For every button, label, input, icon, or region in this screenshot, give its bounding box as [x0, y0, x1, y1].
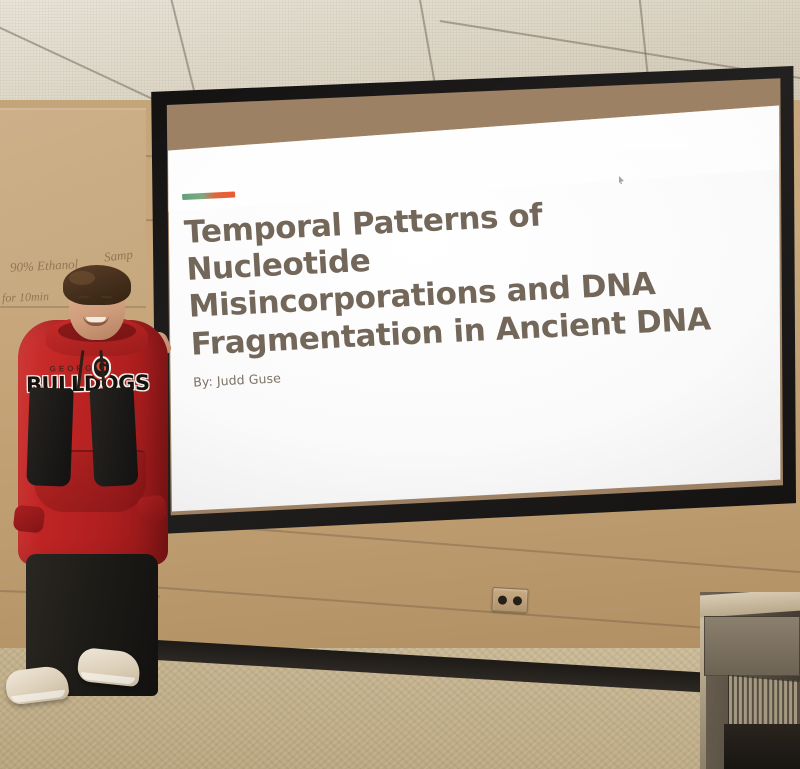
radiator-body	[704, 616, 800, 676]
outlet-port-icon	[512, 596, 521, 605]
eye	[80, 301, 87, 304]
hoodie-cuff	[136, 494, 167, 524]
radiator-top-panel	[700, 592, 800, 618]
radiator-lower	[724, 724, 800, 769]
slide-content: Temporal Patterns of Nucleotide Misincor…	[182, 167, 757, 464]
outlet-port-icon	[498, 595, 507, 604]
classroom-photo: 90% Ethanol Samp for 10min Temporal Patt…	[0, 0, 800, 769]
presenter: GEORGIA BULLDOGS G	[0, 268, 190, 769]
leg	[26, 387, 73, 486]
radiator-unit	[700, 592, 800, 769]
wall-outlet[interactable]	[491, 587, 528, 613]
projection-screen[interactable]: Temporal Patterns of Nucleotide Misincor…	[146, 66, 796, 536]
shoe	[4, 664, 70, 705]
accent-bar	[182, 191, 235, 200]
eye	[103, 301, 110, 304]
leg	[89, 387, 138, 487]
slide-title: Temporal Patterns of Nucleotide Misincor…	[183, 189, 721, 363]
radiator-grille	[728, 675, 800, 731]
hair	[63, 265, 131, 305]
hoodie-cuff	[13, 505, 46, 534]
